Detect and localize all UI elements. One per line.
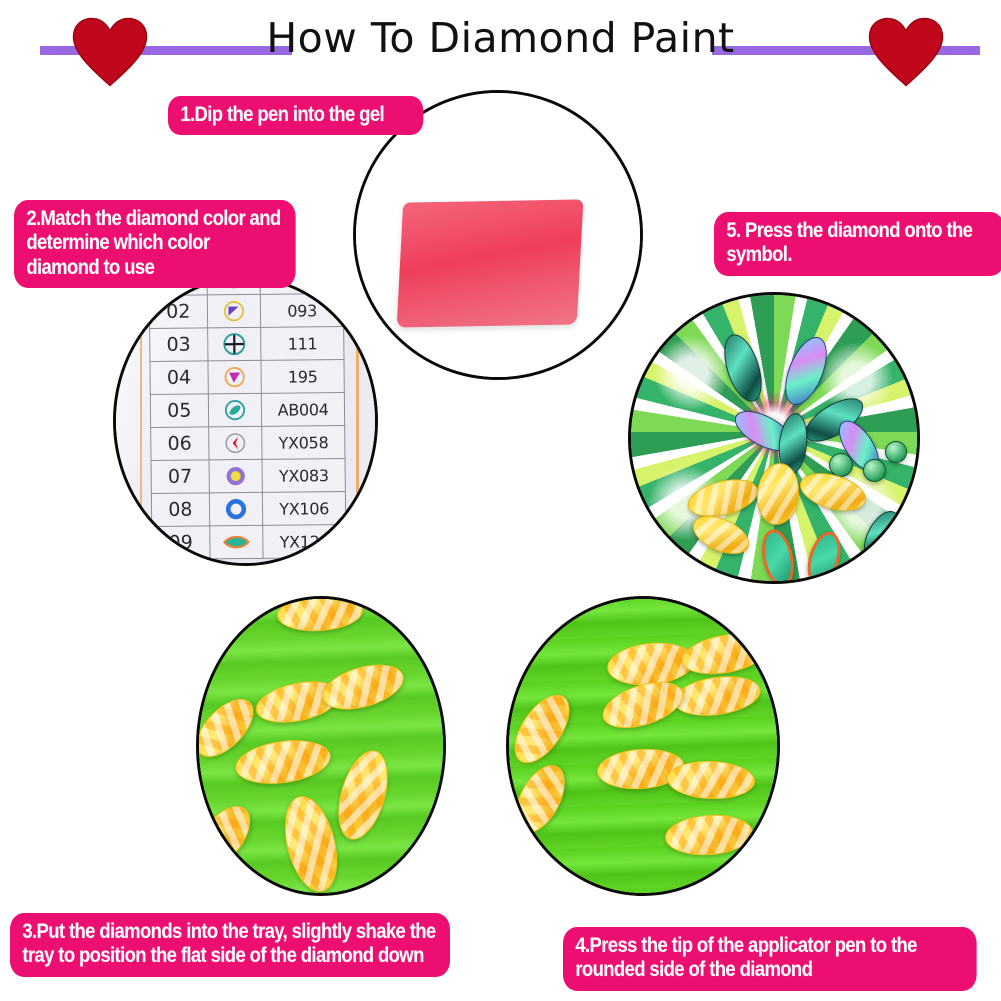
table-row: 09 YX125 bbox=[152, 524, 346, 559]
photo-diamonds-in-tray bbox=[196, 596, 446, 896]
table-row: 05 AB004 bbox=[150, 392, 344, 427]
table-row: 07 YX083 bbox=[151, 458, 345, 493]
step-3-label: 3.Put the diamonds into the tray, slight… bbox=[10, 913, 450, 977]
heart-icon bbox=[72, 17, 148, 87]
chart-margin-line bbox=[356, 279, 359, 563]
chart-margin-line bbox=[140, 279, 142, 563]
red-chevron-icon bbox=[208, 426, 262, 460]
table-row: 08 YX106 bbox=[151, 491, 345, 526]
page-title: How To Diamond Paint bbox=[0, 16, 1001, 61]
table-row: 02 093 bbox=[149, 293, 343, 328]
gel-pad bbox=[397, 199, 584, 327]
infographic-page: How To Diamond Paint 1.Dip the pen into … bbox=[0, 0, 1001, 1001]
table-row: 04 195 bbox=[150, 359, 344, 394]
step-1-label: 1.Dip the pen into the gel bbox=[168, 96, 423, 135]
yellow-dot-ring-icon bbox=[209, 459, 263, 493]
photo-color-chart: 01 020 02 bbox=[113, 276, 378, 566]
table-row: 03 111 bbox=[150, 326, 344, 361]
teal-leaf-icon bbox=[209, 525, 263, 559]
plus-cross-icon bbox=[207, 327, 261, 361]
photo-pressing-onto-canvas bbox=[628, 292, 920, 584]
heart-icon bbox=[868, 17, 944, 87]
step-5-label: 5. Press the diamond onto the symbol. bbox=[714, 212, 1001, 276]
gem bbox=[885, 441, 907, 463]
gem bbox=[863, 459, 886, 482]
teal-ellipse-icon bbox=[208, 393, 262, 427]
table-row: 06 YX058 bbox=[151, 425, 345, 460]
step-4-label: 4.Press the tip of the applicator pen to… bbox=[563, 927, 977, 991]
purple-triangle-icon bbox=[207, 294, 261, 328]
photo-pen-picking-diamond bbox=[506, 596, 780, 896]
step-2-label: 2.Match the diamond color and determine … bbox=[14, 200, 296, 288]
blue-ring-icon bbox=[209, 492, 263, 526]
color-chart-table: 01 020 02 bbox=[148, 276, 346, 560]
page-header: How To Diamond Paint bbox=[0, 0, 1001, 86]
magenta-triangle-icon bbox=[208, 360, 262, 394]
